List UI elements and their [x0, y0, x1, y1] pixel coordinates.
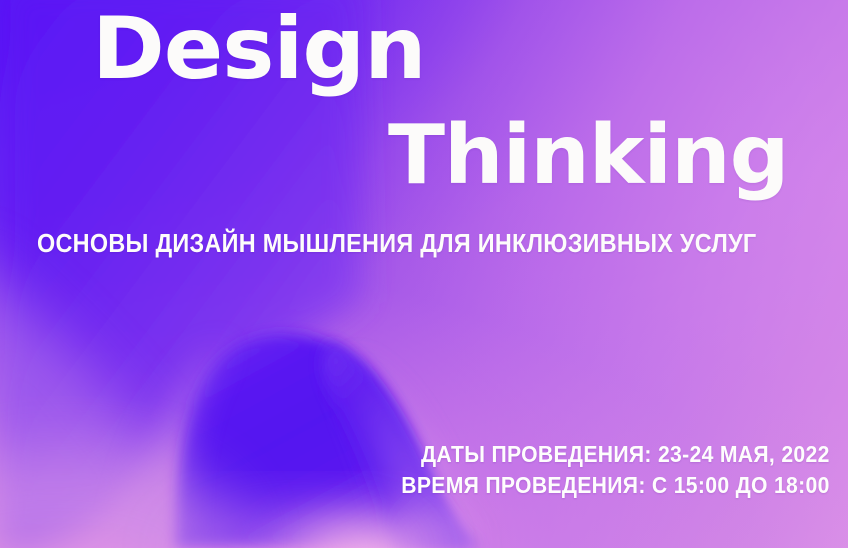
event-time-line: ВРЕМЯ ПРОВЕДЕНИЯ: С 15:00 ДО 18:00: [402, 470, 830, 502]
poster-subtitle: ОСНОВЫ ДИЗАЙН МЫШЛЕНИЯ ДЛЯ ИНКЛЮЗИВНЫХ У…: [37, 229, 756, 257]
headline-design: Design: [92, 8, 426, 91]
event-dates-line: ДАТЫ ПРОВЕДЕНИЯ: 23-24 МАЯ, 2022: [402, 439, 830, 471]
headline-thinking: Thinking: [388, 117, 788, 196]
event-details-block: ДАТЫ ПРОВЕДЕНИЯ: 23-24 МАЯ, 2022 ВРЕМЯ П…: [364, 439, 830, 502]
poster-canvas: Design Thinking ОСНОВЫ ДИЗАЙН МЫШЛЕНИЯ Д…: [0, 0, 848, 548]
